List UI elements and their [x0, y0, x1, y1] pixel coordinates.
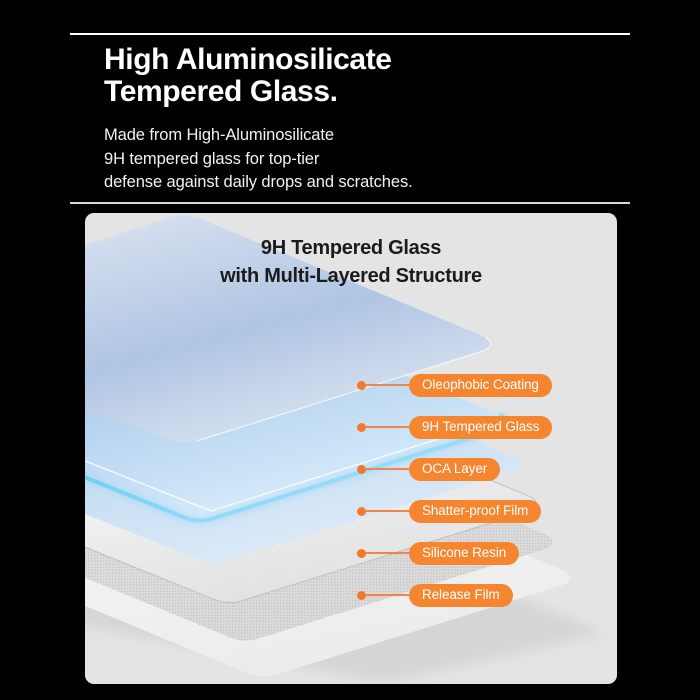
- callout-list: Oleophobic Coating 9H Tempered Glass OCA…: [85, 213, 617, 684]
- callout-dot-icon: [357, 423, 366, 432]
- callout-label[interactable]: 9H Tempered Glass: [409, 416, 552, 439]
- leader-line: [366, 552, 409, 554]
- callout-dot-icon: [357, 465, 366, 474]
- page-subcopy: Made from High-Aluminosilicate 9H temper…: [104, 124, 624, 195]
- callout-dot-icon: [357, 381, 366, 390]
- callout-release-film[interactable]: Release Film: [357, 583, 513, 607]
- leader-line: [366, 384, 409, 386]
- callout-label[interactable]: Silicone Resin: [409, 542, 519, 565]
- product-feature-graphic: High Aluminosilicate Tempered Glass. Mad…: [0, 0, 700, 700]
- callout-9h-tempered-glass[interactable]: 9H Tempered Glass: [357, 415, 552, 439]
- callout-label[interactable]: OCA Layer: [409, 458, 500, 481]
- divider-top: [70, 33, 630, 35]
- callout-dot-icon: [357, 591, 366, 600]
- leader-line: [366, 510, 409, 512]
- leader-line: [366, 594, 409, 596]
- callout-silicone-resin[interactable]: Silicone Resin: [357, 541, 519, 565]
- leader-line: [366, 426, 409, 428]
- callout-shatter-proof-film[interactable]: Shatter-proof Film: [357, 499, 541, 523]
- callout-label[interactable]: Oleophobic Coating: [409, 374, 552, 397]
- callout-label[interactable]: Shatter-proof Film: [409, 500, 541, 523]
- diagram-card: 9H Tempered Glass with Multi-Layered Str…: [85, 213, 617, 684]
- callout-dot-icon: [357, 549, 366, 558]
- callout-label[interactable]: Release Film: [409, 584, 513, 607]
- page-headline: High Aluminosilicate Tempered Glass.: [104, 44, 624, 108]
- subcopy-line-2: 9H tempered glass for top-tier: [104, 148, 624, 172]
- subcopy-line-3: defense against daily drops and scratche…: [104, 171, 624, 195]
- headline-line-2: Tempered Glass.: [104, 76, 624, 108]
- callout-dot-icon: [357, 507, 366, 516]
- leader-line: [366, 468, 409, 470]
- headline-line-1: High Aluminosilicate: [104, 43, 392, 76]
- subcopy-line-1: Made from High-Aluminosilicate: [104, 124, 624, 148]
- divider-bottom: [70, 202, 630, 204]
- callout-oleophobic-coating[interactable]: Oleophobic Coating: [357, 373, 552, 397]
- callout-oca-layer[interactable]: OCA Layer: [357, 457, 500, 481]
